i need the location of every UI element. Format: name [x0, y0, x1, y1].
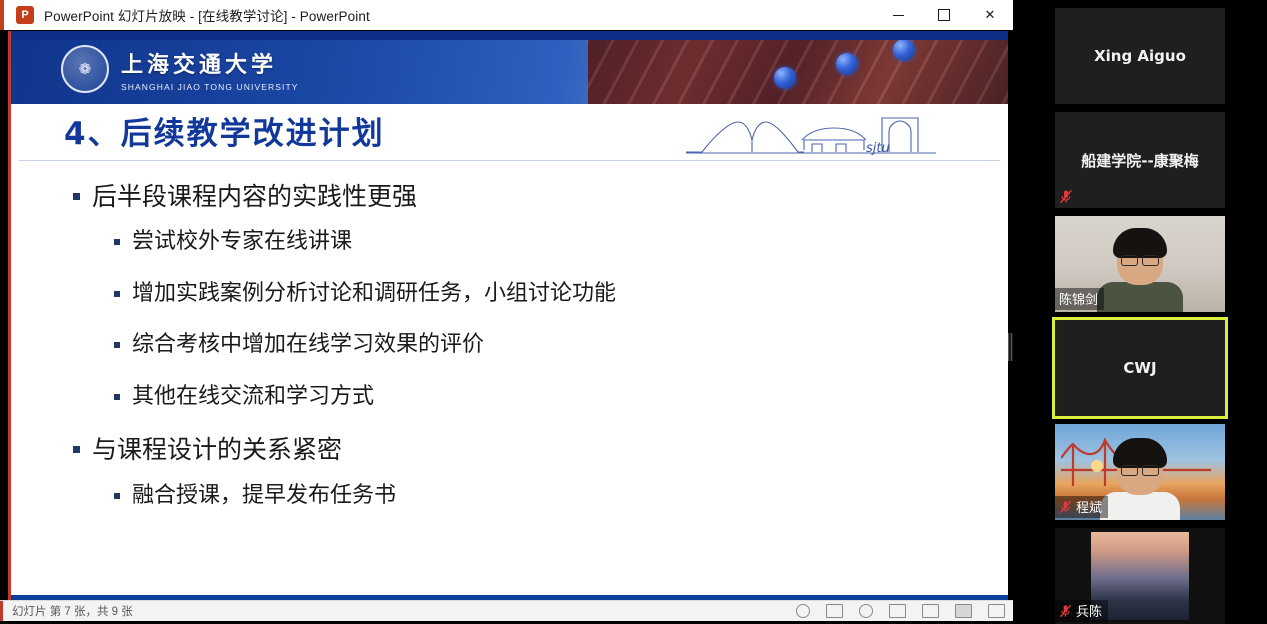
comments-icon[interactable]	[859, 604, 873, 618]
bullet-text: 与课程设计的关系紧密	[92, 434, 342, 465]
status-bar-icons	[796, 601, 1005, 621]
person-head	[1117, 445, 1163, 495]
person-torso	[1100, 492, 1180, 520]
participant-video	[1097, 235, 1183, 312]
slide-bullet-list: 后半段课程内容的实践性更强 尝试校外专家在线讲课 增加实践案例分析讨论和调研任务…	[11, 181, 1008, 533]
participant-name: 陈锦剑	[1055, 288, 1104, 310]
status-bar: 幻灯片 第 7 张，共 9 张	[0, 600, 1013, 621]
accessibility-icon[interactable]	[796, 604, 810, 618]
slide-title-row: 4、后续教学改进计划 sjtu	[11, 104, 1008, 166]
glasses-icon	[1121, 465, 1159, 474]
participant-tile[interactable]: 陈锦剑	[1055, 216, 1225, 312]
title-bar: P PowerPoint 幻灯片放映 - [在线教学讨论] - PowerPoi…	[0, 0, 1013, 31]
slide-show-area[interactable]: ❁ 上海交通大学 SHANGHAI JIAO TONG UNIVERSITY 4…	[0, 30, 1013, 621]
close-button[interactable]: ✕	[967, 0, 1013, 30]
minimize-button[interactable]	[875, 0, 921, 30]
participants-rail: Xing Aiguo 船建学院--康聚梅 陈锦剑 CWJ	[1013, 0, 1267, 621]
slideshow-view-icon[interactable]	[988, 604, 1005, 618]
maximize-button[interactable]	[921, 0, 967, 30]
sjtu-seal-icon: ❁	[61, 45, 109, 93]
window-controls: ✕	[875, 0, 1013, 30]
participant-name: 程斌	[1076, 497, 1102, 516]
participant-tile[interactable]: 船建学院--康聚梅	[1055, 112, 1225, 208]
bullet-level2: 尝试校外专家在线讲课	[114, 228, 1008, 256]
status-bar-accent	[0, 601, 3, 621]
person-hair	[1113, 228, 1167, 258]
banner-lamp-icon	[774, 67, 796, 89]
person-hair	[1113, 438, 1167, 468]
bullet-square-icon	[114, 342, 120, 348]
bullet-square-icon	[73, 446, 80, 453]
participant-tile[interactable]: Xing Aiguo	[1055, 8, 1225, 104]
svg-text:sjtu: sjtu	[866, 141, 890, 156]
powerpoint-window: P PowerPoint 幻灯片放映 - [在线教学讨论] - PowerPoi…	[0, 0, 1013, 621]
screen: P PowerPoint 幻灯片放映 - [在线教学讨论] - PowerPoi…	[0, 0, 1267, 621]
bullet-square-icon	[114, 493, 120, 499]
window-title: PowerPoint 幻灯片放映 - [在线教学讨论] - PowerPoint	[44, 5, 370, 25]
powerpoint-icon: P	[16, 6, 34, 24]
bullet-level1: 后半段课程内容的实践性更强	[73, 181, 1008, 212]
participant-name: 兵陈	[1076, 601, 1102, 620]
banner-top-strip	[11, 31, 1008, 40]
person-head	[1117, 235, 1163, 285]
participant-tile[interactable]: 程斌	[1055, 424, 1225, 520]
campus-skyline-icon: sjtu	[686, 106, 936, 158]
logo-chinese-name: 上海交通大学	[121, 47, 299, 79]
muted-mic-icon	[1059, 189, 1073, 204]
bullet-text: 尝试校外专家在线讲课	[132, 228, 352, 256]
page-title: 4、后续教学改进计划	[64, 108, 385, 153]
university-logo: ❁ 上海交通大学 SHANGHAI JIAO TONG UNIVERSITY	[61, 45, 299, 93]
bullet-square-icon	[114, 239, 120, 245]
bullet-text: 增加实践案例分析讨论和调研任务，小组讨论功能	[132, 280, 616, 308]
maximize-icon	[938, 9, 950, 21]
notes-icon[interactable]	[826, 604, 843, 618]
bullet-level2: 综合考核中增加在线学习效果的评价	[114, 331, 1008, 359]
slide-canvas[interactable]: ❁ 上海交通大学 SHANGHAI JIAO TONG UNIVERSITY 4…	[8, 31, 1008, 608]
person-torso	[1097, 282, 1183, 312]
minimize-icon	[893, 15, 904, 16]
participant-name: 船建学院--康聚梅	[1055, 112, 1225, 208]
bullet-square-icon	[114, 291, 120, 297]
normal-view-icon[interactable]	[889, 604, 906, 618]
bullet-square-icon	[73, 193, 80, 200]
participant-name-badge: 程斌	[1055, 496, 1108, 518]
bullet-level2: 其他在线交流和学习方式	[114, 383, 1008, 411]
glasses-icon	[1121, 255, 1159, 264]
participant-tile-active-speaker[interactable]: CWJ	[1055, 320, 1225, 416]
logo-english-name: SHANGHAI JIAO TONG UNIVERSITY	[121, 82, 299, 92]
participant-video	[1100, 445, 1180, 520]
banner-photo	[588, 37, 1008, 104]
bullet-level2: 增加实践案例分析讨论和调研任务，小组讨论功能	[114, 280, 1008, 308]
bullet-text: 融合授课，提早发布任务书	[132, 482, 396, 510]
participant-name: Xing Aiguo	[1055, 8, 1225, 104]
participant-name: CWJ	[1055, 320, 1225, 416]
banner-lamp-icon	[893, 39, 915, 61]
banner-lamp-icon	[836, 53, 858, 75]
close-icon: ✕	[985, 7, 996, 23]
title-bar-accent	[0, 0, 4, 30]
bullet-text: 后半段课程内容的实践性更强	[92, 181, 417, 212]
reading-view-icon[interactable]	[955, 604, 972, 618]
bullet-level2: 融合授课，提早发布任务书	[114, 482, 1008, 510]
participant-name-badge: 兵陈	[1055, 600, 1108, 622]
participant-tile[interactable]: 兵陈	[1055, 528, 1225, 624]
sorter-view-icon[interactable]	[922, 604, 939, 618]
muted-mic-icon	[1059, 500, 1072, 514]
title-divider	[19, 160, 1000, 161]
bullet-square-icon	[114, 394, 120, 400]
slide-banner: ❁ 上海交通大学 SHANGHAI JIAO TONG UNIVERSITY	[11, 31, 1008, 104]
bullet-level1: 与课程设计的关系紧密	[73, 434, 1008, 465]
muted-mic-icon	[1059, 604, 1072, 618]
bullet-text: 综合考核中增加在线学习效果的评价	[132, 331, 484, 359]
bullet-text: 其他在线交流和学习方式	[132, 383, 374, 411]
slide-counter: 幻灯片 第 7 张，共 9 张	[12, 603, 133, 619]
